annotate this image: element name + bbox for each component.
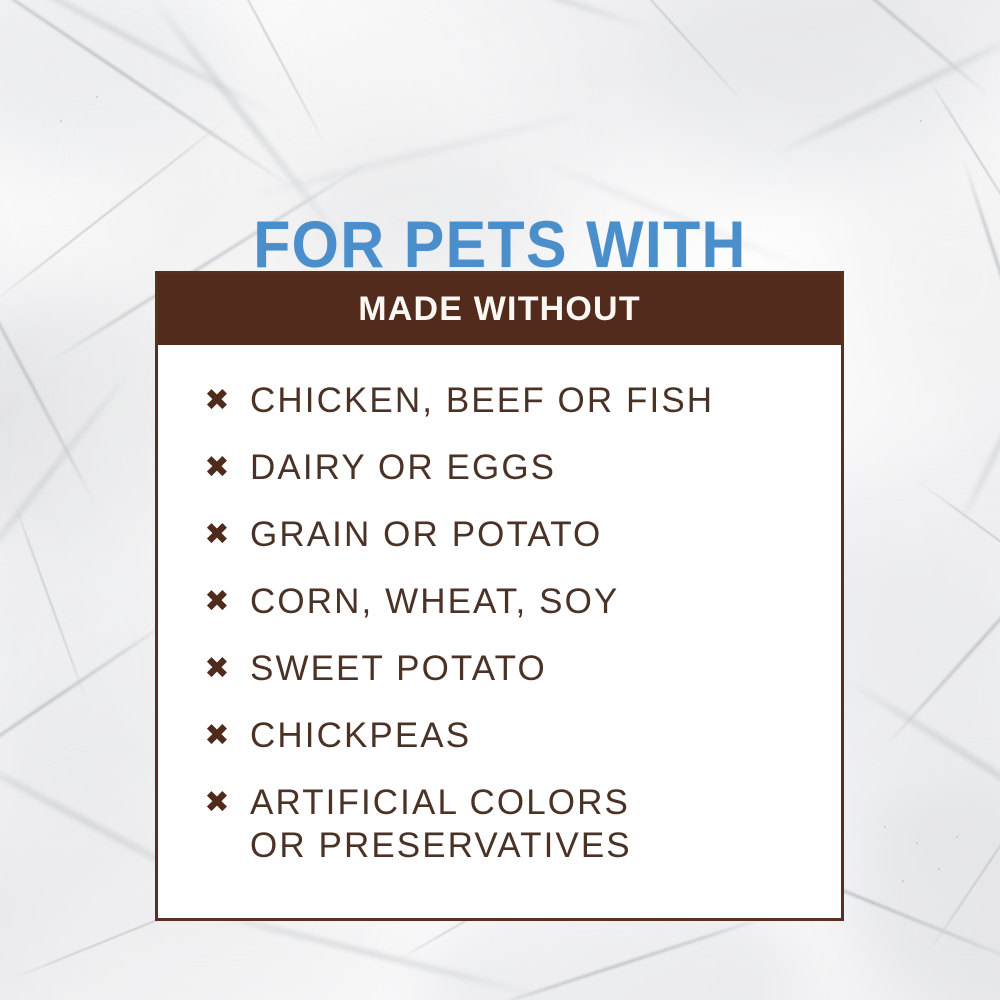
x-mark-icon: ✖	[202, 513, 232, 556]
card-body: ✖ CHICKEN, BEEF OR FISH ✖ DAIRY OR EGGS …	[158, 345, 841, 918]
x-mark-icon: ✖	[202, 379, 232, 422]
list-item: ✖ CORN, WHEAT, SOY	[202, 580, 811, 623]
list-item-label: DAIRY OR EGGS	[250, 446, 556, 489]
list-item: ✖ GRAIN OR POTATO	[202, 513, 811, 556]
page-title-line-1: FOR PETS WITH	[40, 212, 960, 276]
x-mark-icon: ✖	[202, 580, 232, 623]
card-header-label: MADE WITHOUT	[358, 290, 641, 329]
list-item: ✖ CHICKEN, BEEF OR FISH	[202, 379, 811, 422]
list-item-label: CHICKPEAS	[250, 714, 471, 757]
x-mark-icon: ✖	[202, 781, 232, 824]
list-item-label: ARTIFICIAL COLORS OR PRESERVATIVES	[250, 781, 632, 867]
x-mark-icon: ✖	[202, 714, 232, 757]
x-mark-icon: ✖	[202, 647, 232, 690]
list-item: ✖ SWEET POTATO	[202, 647, 811, 690]
list-item-label: SWEET POTATO	[250, 647, 547, 690]
made-without-card: MADE WITHOUT ✖ CHICKEN, BEEF OR FISH ✖ D…	[155, 271, 844, 921]
list-item-label: GRAIN OR POTATO	[250, 513, 602, 556]
x-mark-icon: ✖	[202, 446, 232, 489]
list-item: ✖ CHICKPEAS	[202, 714, 811, 757]
card-header: MADE WITHOUT	[158, 274, 841, 345]
list-item: ✖ DAIRY OR EGGS	[202, 446, 811, 489]
list-item: ✖ ARTIFICIAL COLORS OR PRESERVATIVES	[202, 781, 811, 867]
excluded-ingredients-list: ✖ CHICKEN, BEEF OR FISH ✖ DAIRY OR EGGS …	[202, 379, 811, 867]
list-item-label: CHICKEN, BEEF OR FISH	[250, 379, 714, 422]
product-infographic-panel: FOR PETS WITH FOOD SENSITIVITIES MADE WI…	[0, 0, 1000, 1000]
list-item-label: CORN, WHEAT, SOY	[250, 580, 619, 623]
